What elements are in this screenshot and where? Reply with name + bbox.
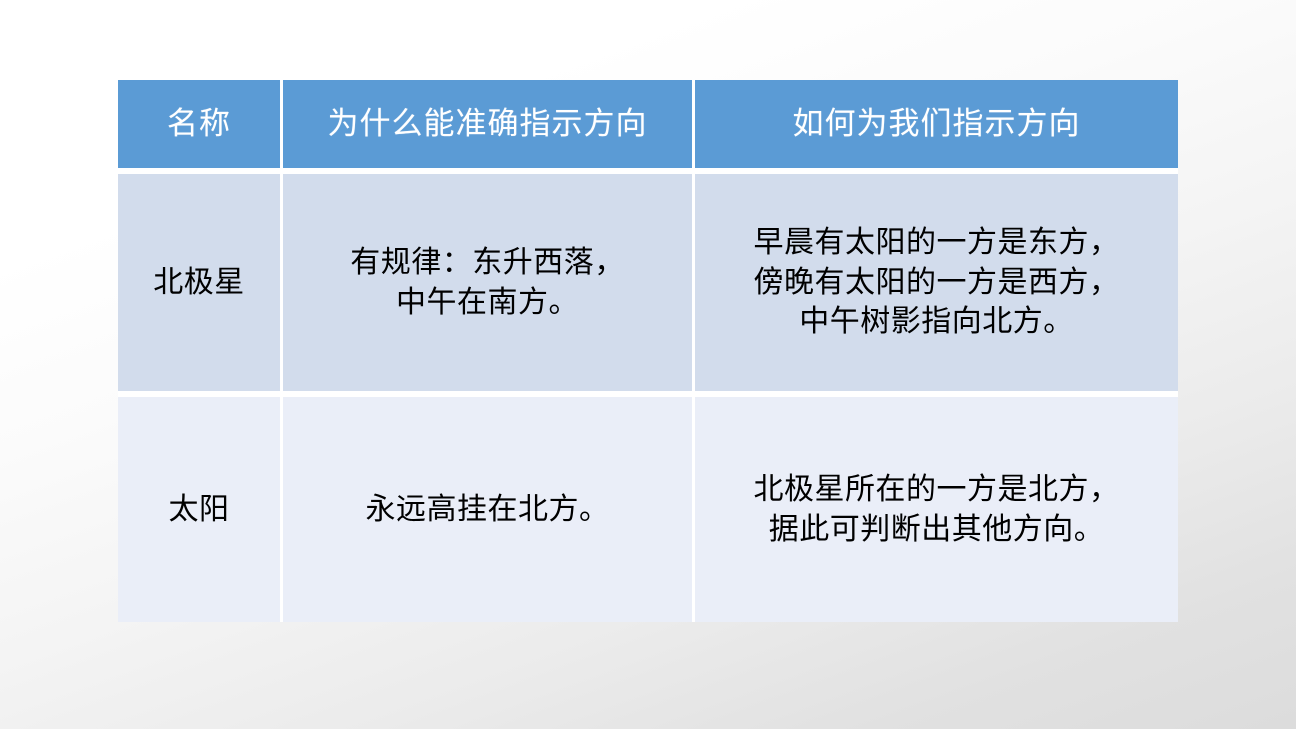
table-body: 北极星 有规律：东升西落， 中午在南方。 早晨有太阳的一方是东方， 傍晚有太阳的… — [118, 174, 1178, 622]
comparison-table-container: 名称 为什么能准确指示方向 如何为我们指示方向 北极星 有规律：东升西落， 中午… — [118, 80, 1178, 598]
cell-how-row1: 早晨有太阳的一方是东方， 傍晚有太阳的一方是西方， 中午树影指向北方。 — [695, 174, 1178, 397]
column-header-how: 如何为我们指示方向 — [695, 80, 1178, 174]
cell-text: 有规律：东升西落， 中午在南方。 — [293, 243, 682, 322]
cell-text: 永远高挂在北方。 — [293, 490, 682, 530]
cell-reason-row2: 永远高挂在北方。 — [283, 397, 695, 622]
cell-how-row2: 北极星所在的一方是北方， 据此可判断出其他方向。 — [695, 397, 1178, 622]
table-row: 太阳 永远高挂在北方。 北极星所在的一方是北方， 据此可判断出其他方向。 — [118, 397, 1178, 622]
cell-text: 太阳 — [128, 490, 270, 530]
table-header: 名称 为什么能准确指示方向 如何为我们指示方向 — [118, 80, 1178, 174]
comparison-table: 名称 为什么能准确指示方向 如何为我们指示方向 北极星 有规律：东升西落， 中午… — [118, 80, 1178, 622]
cell-name-row2: 太阳 — [118, 397, 283, 622]
cell-name-row1: 北极星 — [118, 174, 283, 397]
cell-text: 早晨有太阳的一方是东方， 傍晚有太阳的一方是西方， 中午树影指向北方。 — [705, 223, 1168, 342]
table-header-row: 名称 为什么能准确指示方向 如何为我们指示方向 — [118, 80, 1178, 174]
slide-canvas: 名称 为什么能准确指示方向 如何为我们指示方向 北极星 有规律：东升西落， 中午… — [0, 0, 1296, 729]
cell-text: 北极星 — [128, 263, 270, 303]
cell-reason-row1: 有规律：东升西落， 中午在南方。 — [283, 174, 695, 397]
table-row: 北极星 有规律：东升西落， 中午在南方。 早晨有太阳的一方是东方， 傍晚有太阳的… — [118, 174, 1178, 397]
column-header-reason: 为什么能准确指示方向 — [283, 80, 695, 174]
cell-text: 北极星所在的一方是北方， 据此可判断出其他方向。 — [705, 470, 1168, 549]
column-header-name: 名称 — [118, 80, 283, 174]
